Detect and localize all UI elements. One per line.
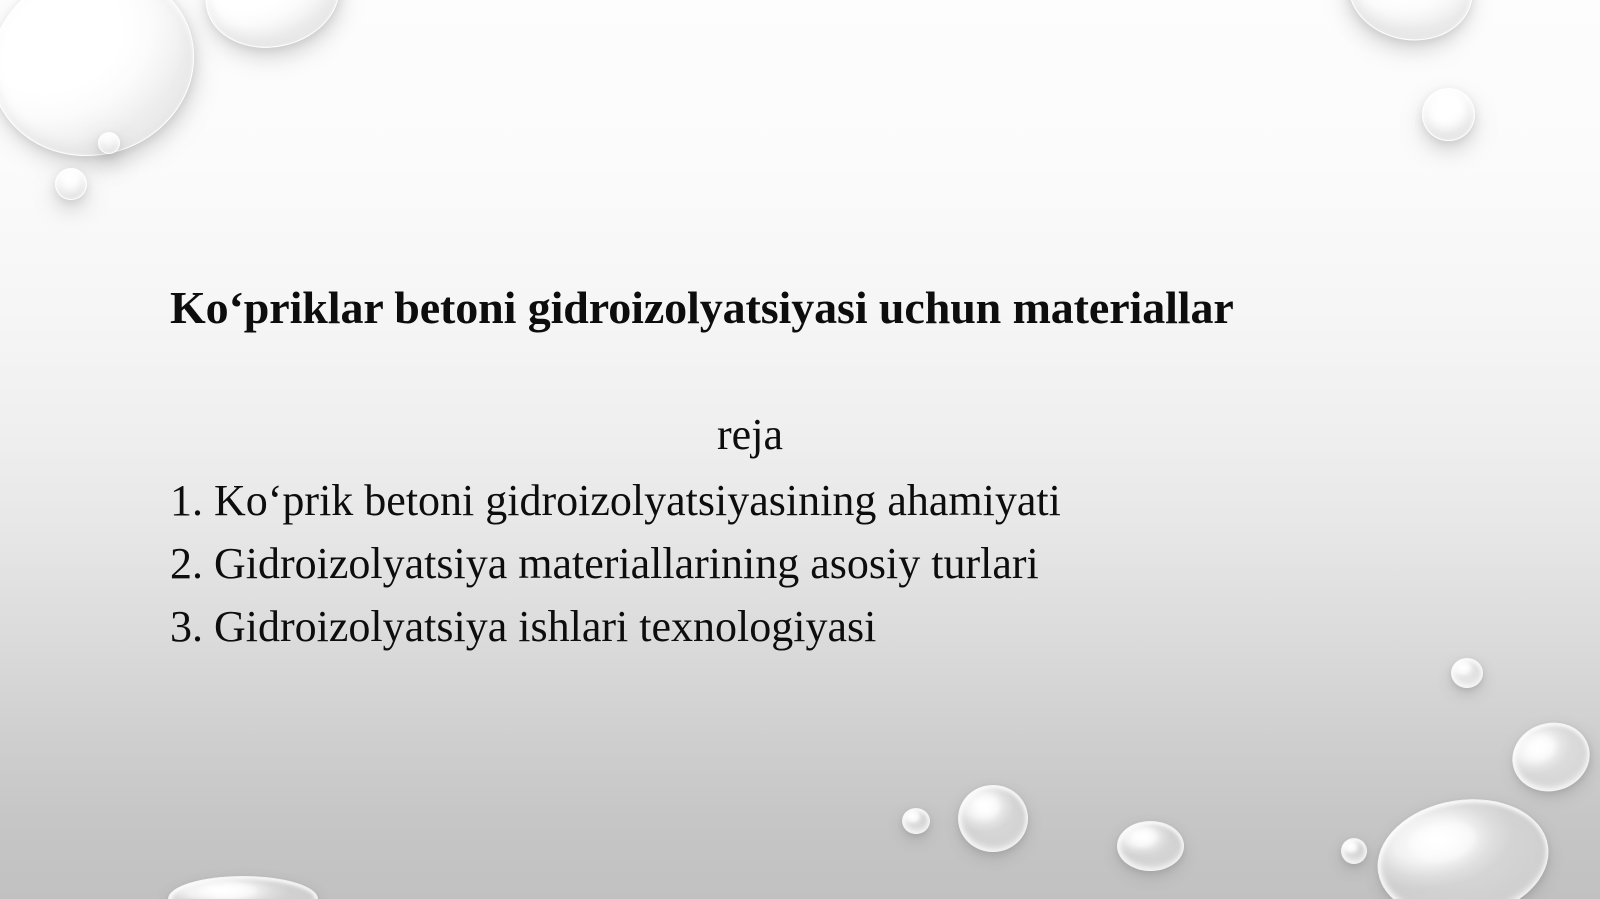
outline-item: 3. Gidroizolyatsiya ishlari texnologiyas…	[170, 596, 1530, 659]
slide-content: Ko‘priklar betoni gidroizolyatsiyasi uch…	[0, 0, 1600, 899]
outline-item: 2. Gidroizolyatsiya materiallarining aso…	[170, 533, 1530, 596]
slide-subheading: reja	[170, 409, 1330, 462]
slide-title: Ko‘priklar betoni gidroizolyatsiyasi uch…	[170, 281, 1300, 335]
presentation-slide: Ko‘priklar betoni gidroizolyatsiyasi uch…	[0, 0, 1600, 899]
slide-outline-list: 1. Ko‘prik betoni gidroizolyatsiyasining…	[170, 470, 1530, 659]
outline-item: 1. Ko‘prik betoni gidroizolyatsiyasining…	[170, 470, 1530, 533]
